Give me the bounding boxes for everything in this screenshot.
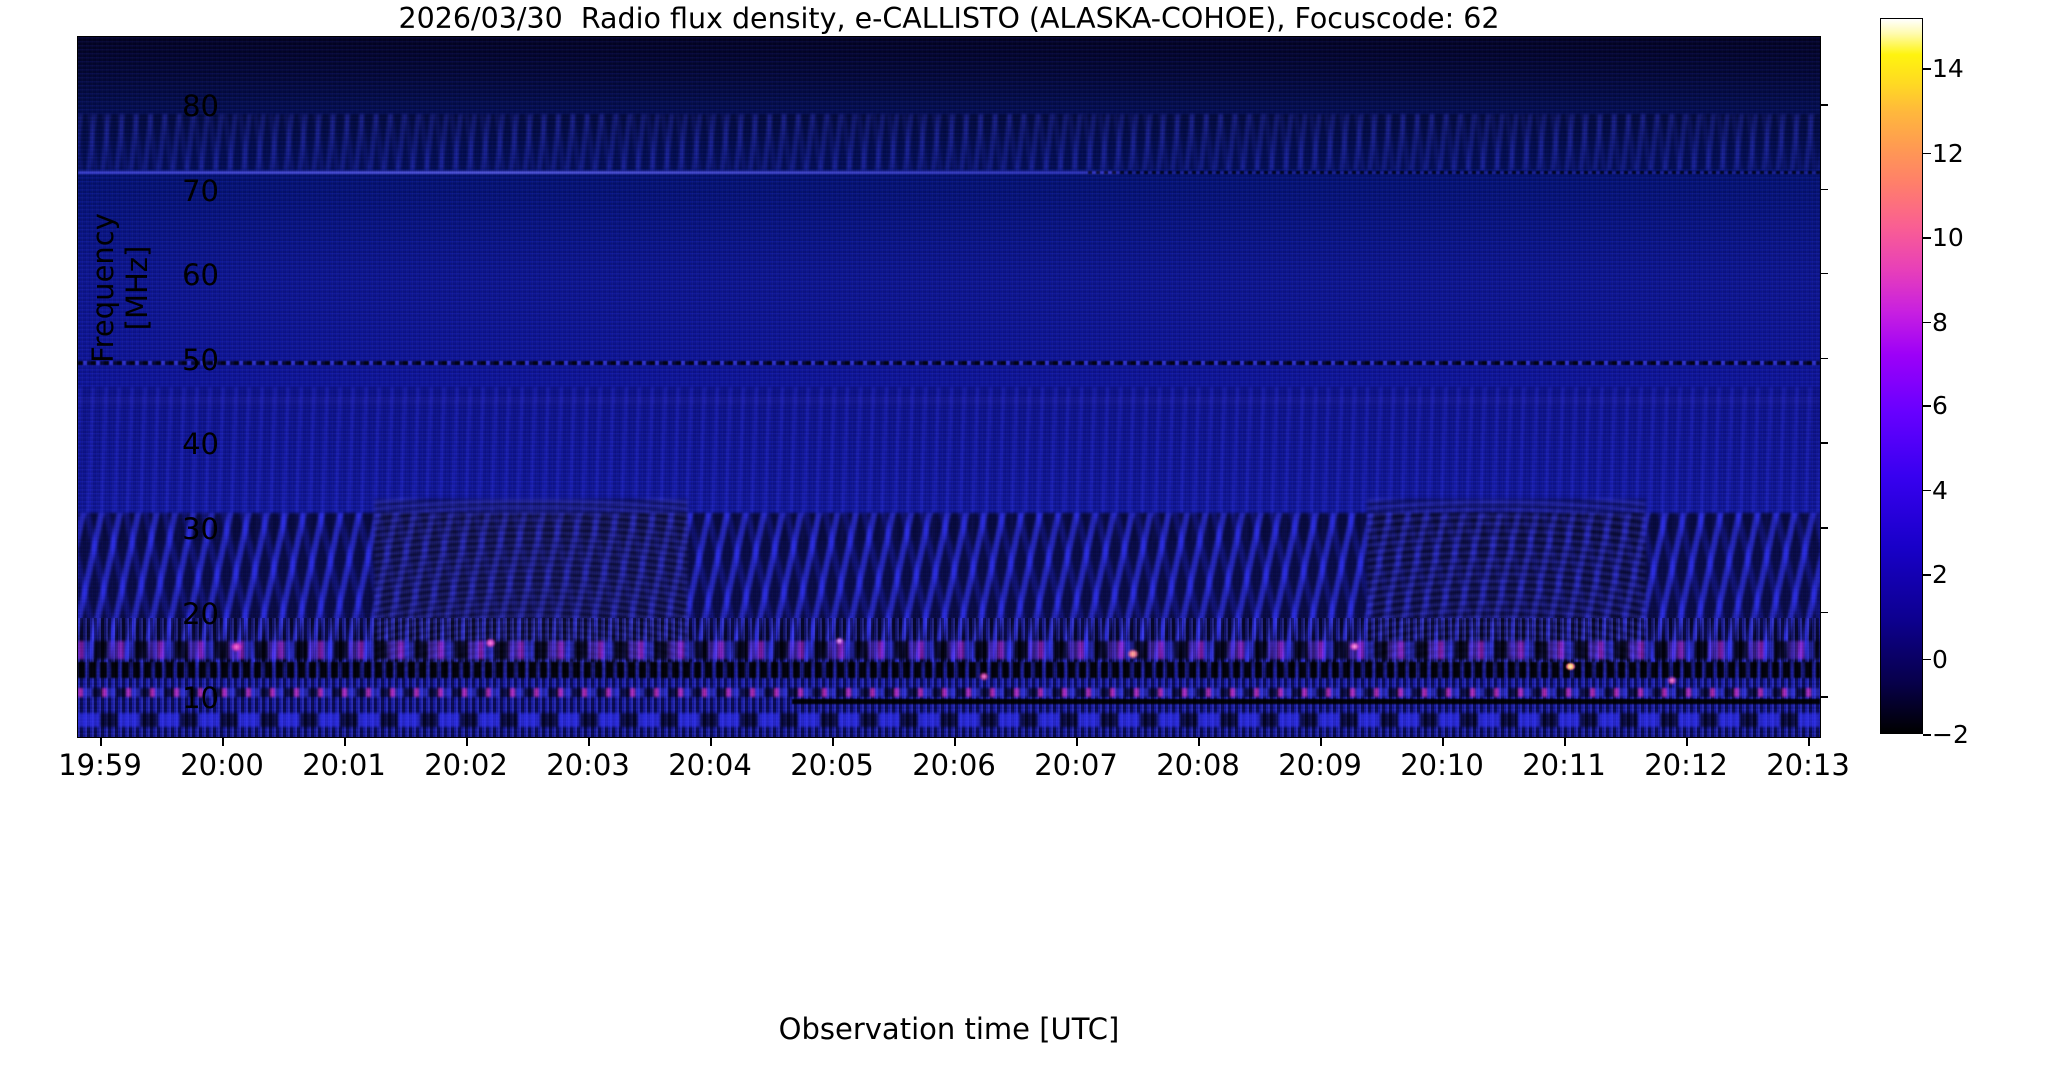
- colorbar-tick-label: 8: [1932, 308, 2022, 336]
- x-tick-mark: [1198, 738, 1200, 746]
- colorbar-tick-mark: [1923, 322, 1931, 324]
- x-tick-label: 20:13: [1728, 748, 1888, 784]
- x-tick-mark: [832, 738, 834, 746]
- y-tick-label: 40: [99, 427, 219, 457]
- y-tick-label: 70: [99, 174, 219, 204]
- y-tick-mark: [1820, 358, 1828, 360]
- y-tick-label: 80: [99, 89, 219, 119]
- y-tick-label: 60: [99, 258, 219, 288]
- y-tick-label: 20: [99, 597, 219, 627]
- x-tick-mark: [1808, 738, 1810, 746]
- spectrogram-figure: 2026/03/30 Radio flux density, e-CALLIST…: [0, 0, 2047, 1067]
- y-tick-label: 30: [99, 512, 219, 542]
- x-tick-mark: [1442, 738, 1444, 746]
- x-tick-mark: [222, 738, 224, 746]
- x-tick-mark: [344, 738, 346, 746]
- x-tick-mark: [1320, 738, 1322, 746]
- page-title: 2026/03/30 Radio flux density, e-CALLIST…: [78, 2, 1820, 35]
- x-tick-mark: [466, 738, 468, 746]
- y-tick-mark: [1820, 273, 1828, 275]
- x-tick-mark: [710, 738, 712, 746]
- x-tick-mark: [1686, 738, 1688, 746]
- x-tick-mark: [954, 738, 956, 746]
- spectrogram-plot-area[interactable]: [78, 37, 1820, 737]
- grain-overlay: [78, 37, 1820, 737]
- colorbar-tick-mark: [1923, 659, 1931, 661]
- colorbar-tick-label: 14: [1932, 54, 2022, 82]
- x-axis-label: Observation time [UTC]: [78, 1012, 1820, 1052]
- y-tick-mark: [1820, 104, 1828, 106]
- y-tick-label: 10: [99, 681, 219, 711]
- colorbar-tick-label: −2: [1932, 720, 2022, 748]
- colorbar-tick-label: 12: [1932, 139, 2022, 167]
- colorbar-tick-mark: [1923, 490, 1931, 492]
- colorbar-tick-mark: [1923, 574, 1931, 576]
- x-tick-mark: [1076, 738, 1078, 746]
- colorbar-tick-mark: [1923, 405, 1931, 407]
- x-tick-mark: [588, 738, 590, 746]
- y-tick-mark: [1820, 527, 1828, 529]
- colorbar-tick-mark: [1923, 68, 1931, 70]
- colorbar-tick-label: 10: [1932, 223, 2022, 251]
- y-tick-mark: [1820, 189, 1828, 191]
- y-tick-mark: [1820, 612, 1828, 614]
- y-tick-label: 50: [99, 343, 219, 373]
- y-tick-mark: [1820, 696, 1828, 698]
- y-tick-mark: [1820, 442, 1828, 444]
- colorbar-tick-label: 0: [1932, 645, 2022, 673]
- colorbar-tick-mark: [1923, 237, 1931, 239]
- colorbar-tick-label: 2: [1932, 560, 2022, 588]
- x-tick-mark: [100, 738, 102, 746]
- x-tick-mark: [1564, 738, 1566, 746]
- colorbar[interactable]: [1880, 18, 1923, 734]
- colorbar-tick-label: 4: [1932, 476, 2022, 504]
- colorbar-tick-mark: [1923, 153, 1931, 155]
- colorbar-tick-mark: [1923, 734, 1931, 736]
- colorbar-tick-label: 6: [1932, 391, 2022, 419]
